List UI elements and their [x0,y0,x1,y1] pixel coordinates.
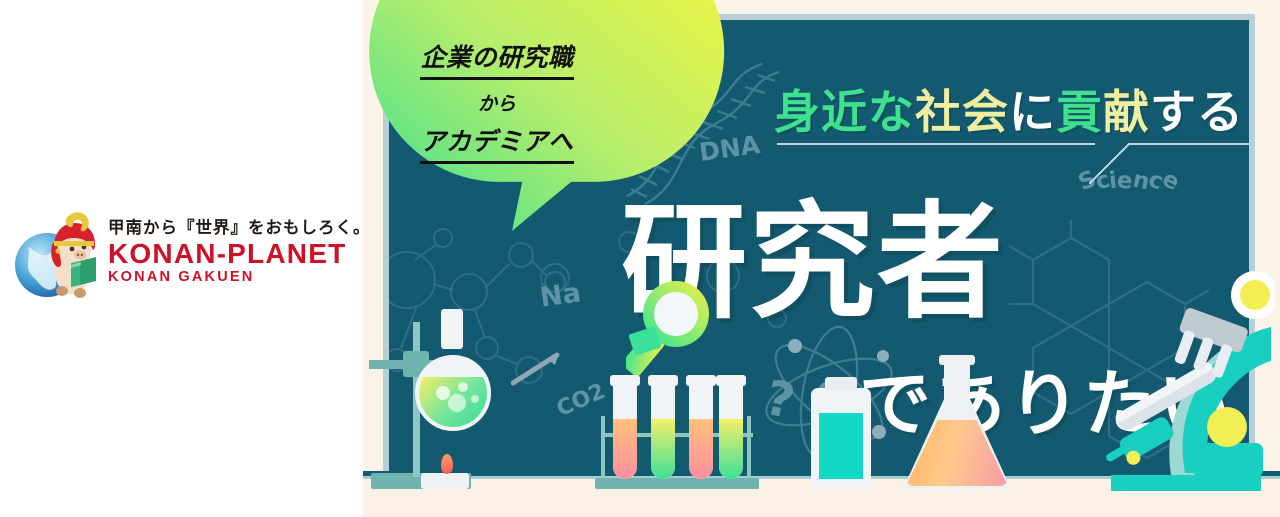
question-mark-label: ? [760,370,799,431]
test-tube-rack [595,363,759,489]
na-label: Na [538,277,583,313]
dna-label: DNA [697,130,761,167]
alcohol-burner [421,473,469,489]
test-tube [651,375,675,479]
h3c-label: H3C [620,70,681,108]
headline-part: 貢 [1056,85,1103,139]
rack-post [601,416,605,478]
headline-chevron-icon [1089,142,1149,184]
brand-subname: KONAN GAKUEN [108,270,371,286]
logo-panel: 甲南から『世界』をおもしろく。 KONAN-PLANET KONAN GAKUE… [0,0,363,517]
brand-text: 甲南から『世界』をおもしろく。 KONAN-PLANET KONAN GAKUE… [108,219,371,286]
bottle-body [811,388,871,489]
banner-root: 甲南から『世界』をおもしろく。 KONAN-PLANET KONAN GAKUE… [0,0,1280,517]
headline-rule-left [777,143,1095,145]
round-flask [415,355,491,431]
headline-part: な [868,85,915,139]
flask-bubbles-icon [419,359,491,431]
headline-rule-right [1139,143,1249,145]
headline-part: する [1150,85,1244,139]
bottle-liquid [819,413,863,479]
erlenmeyer-flask [903,349,1011,489]
bottle-cap [825,377,857,390]
headline-part: に [1009,85,1056,139]
erlenmeyer-neck [944,363,970,405]
headline-part: 献 [1103,85,1150,139]
brand-name: KONAN-PLANET [108,239,371,268]
up-arrow-icon [511,347,567,387]
rack-post [747,416,751,478]
test-tube [689,375,713,479]
test-tube [613,375,637,479]
microscope-icon [1075,261,1275,491]
test-tube [719,375,743,479]
erlenmeyer-lip [939,355,975,365]
headline: 身近な社会に貢献する [774,76,1244,142]
magnifying-glass-icon [626,266,718,376]
flame-icon [441,454,453,474]
rack-base [595,478,759,489]
round-flask-neck [441,309,463,349]
hero-stage: H3C DNA Na CO2 ? Science 身近な社会に貢献する 研究者 [363,0,1280,517]
headline-part: 社会 [915,85,1009,139]
konan-mascot-globe-icon [14,203,100,303]
brand-logo[interactable]: 甲南から『世界』をおもしろく。 KONAN-PLANET KONAN GAKUE… [14,195,354,310]
reagent-bottle [811,377,871,489]
brand-tagline: 甲南から『世界』をおもしろく。 [108,219,371,237]
headline-part: 身近 [774,85,868,139]
